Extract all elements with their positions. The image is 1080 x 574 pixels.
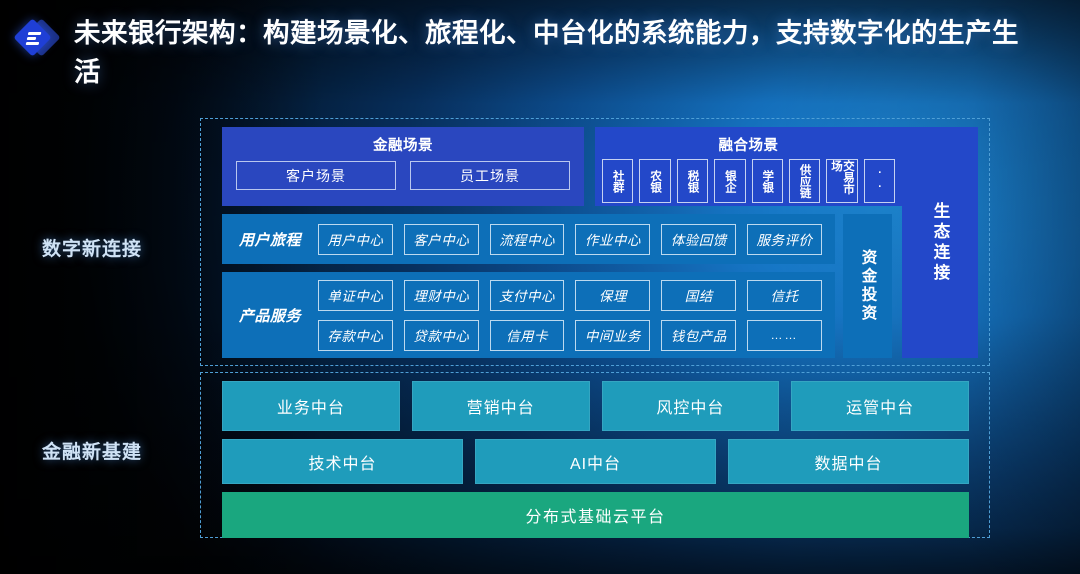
product-chip-payment-center[interactable]: 支付中心: [490, 280, 565, 311]
page-title: 未来银行架构：构建场景化、旅程化、中台化的系统能力，支持数字化的生产生活: [74, 14, 1034, 91]
midplatform-operations[interactable]: 运管中台: [791, 381, 969, 431]
section-label-financial-infrastructure: 金融新基建: [42, 437, 142, 464]
lingzhi-diamond-logo-icon: [16, 18, 58, 60]
product-chip-loan-center[interactable]: 贷款中心: [404, 320, 479, 351]
slide-header: 未来银行架构：构建场景化、旅程化、中台化的系统能力，支持数字化的生产生活: [0, 0, 1080, 104]
midplatform-risk-control[interactable]: 风控中台: [602, 381, 780, 431]
scene-cell-employee[interactable]: 员工场景: [410, 161, 570, 190]
panel-financial-scene[interactable]: 金融场景 客户场景 员工场景: [222, 127, 584, 206]
midplatform-row-2: 技术中台 AI中台 数据中台: [222, 439, 969, 484]
midplatform-business[interactable]: 业务中台: [222, 381, 400, 431]
column-ecosystem-connection[interactable]: 生态连接: [902, 127, 978, 358]
product-service-row-2: 存款中心 贷款中心 信用卡 中间业务 钱包产品 ……: [318, 320, 822, 351]
journey-chip-experience-feedback[interactable]: 体验回馈: [661, 224, 736, 255]
journey-chip-process-center[interactable]: 流程中心: [490, 224, 565, 255]
journey-chip-operation-center[interactable]: 作业中心: [575, 224, 650, 255]
distributed-cloud-platform-bar[interactable]: 分布式基础云平台: [222, 492, 969, 538]
band-user-journey-label: 用户旅程: [222, 229, 318, 250]
midplatform-ai[interactable]: AI中台: [475, 439, 716, 484]
column-fund-investment[interactable]: 资金投资: [843, 214, 892, 358]
scene-cell-customer[interactable]: 客户场景: [236, 161, 396, 190]
band-product-service[interactable]: 产品服务 单证中心 理财中心 支付中心 保理 国结 信托 存款中心 贷款中心 信…: [222, 272, 835, 358]
journey-chip-customer-center[interactable]: 客户中心: [404, 224, 479, 255]
midplatform-technology[interactable]: 技术中台: [222, 439, 463, 484]
panel-merged-scene-title: 融合场景: [595, 127, 902, 155]
product-chip-deposit-center[interactable]: 存款中心: [318, 320, 393, 351]
band-product-service-label: 产品服务: [222, 305, 318, 326]
product-chip-factoring[interactable]: 保理: [575, 280, 650, 311]
panel-financial-scene-title: 金融场景: [222, 127, 584, 155]
product-chip-wealth-center[interactable]: 理财中心: [404, 280, 479, 311]
product-chip-credit-card[interactable]: 信用卡: [490, 320, 565, 351]
journey-chip-service-evaluation[interactable]: 服务评价: [747, 224, 822, 255]
product-chip-trust[interactable]: 信托: [747, 280, 822, 311]
product-chip-more[interactable]: ……: [747, 320, 822, 351]
product-chip-document-center[interactable]: 单证中心: [318, 280, 393, 311]
band-user-journey[interactable]: 用户旅程 用户中心 客户中心 流程中心 作业中心 体验回馈 服务评价: [222, 214, 835, 264]
merge-cell-school-bank[interactable]: 学银: [752, 159, 783, 203]
product-service-row-1: 单证中心 理财中心 支付中心 保理 国结 信托: [318, 280, 822, 311]
merge-cell-supply-chain[interactable]: 供应链: [789, 159, 820, 203]
product-chip-wallet-product[interactable]: 钱包产品: [661, 320, 736, 351]
panel-merged-scene[interactable]: 融合场景 社群 农银 税银 银企 学银 供应链 交易市场 ··: [595, 127, 902, 206]
merge-cell-community[interactable]: 社群: [602, 159, 633, 203]
merge-cell-agri-bank[interactable]: 农银: [639, 159, 670, 203]
midplatform-marketing[interactable]: 营销中台: [412, 381, 590, 431]
merge-cell-more[interactable]: ··: [864, 159, 895, 203]
merge-cell-tax-bank[interactable]: 税银: [677, 159, 708, 203]
merge-cell-bank-enterprise[interactable]: 银企: [714, 159, 745, 203]
midplatform-row-1: 业务中台 营销中台 风控中台 运管中台: [222, 381, 969, 431]
product-chip-intermediary-business[interactable]: 中间业务: [575, 320, 650, 351]
section-label-digital-connection: 数字新连接: [42, 234, 142, 261]
product-chip-intl-settlement[interactable]: 国结: [661, 280, 736, 311]
journey-chip-user-center[interactable]: 用户中心: [318, 224, 393, 255]
midplatform-data[interactable]: 数据中台: [728, 439, 969, 484]
merge-cell-trading-market[interactable]: 交易市场: [826, 159, 857, 203]
